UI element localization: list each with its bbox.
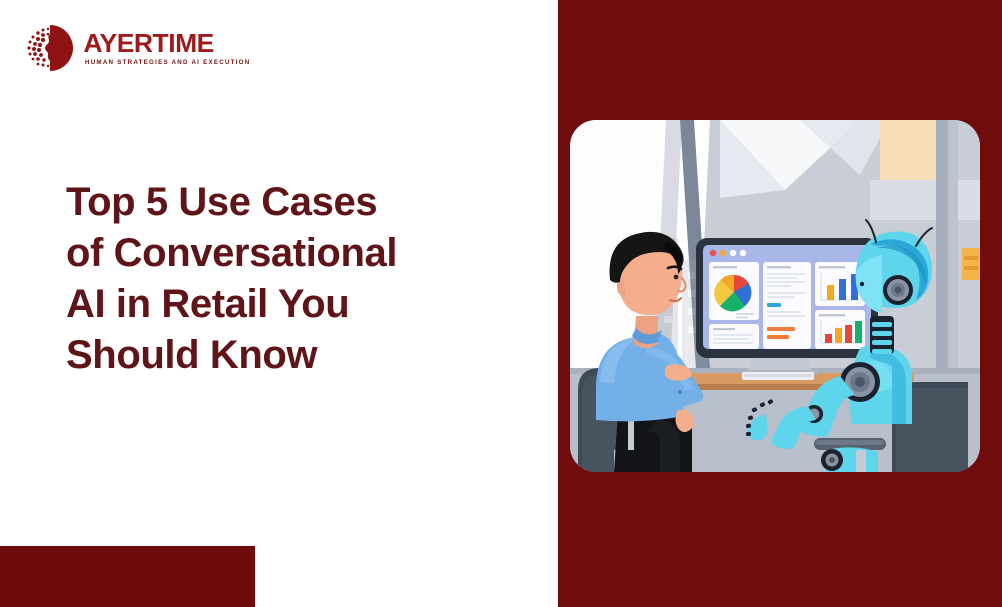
brand-tagline: HUMAN STRATEGIES AND AI EXECUTION bbox=[85, 59, 250, 66]
headline-line-3: AI in Retail You bbox=[66, 279, 546, 330]
man-and-robot-at-desk-illustration bbox=[570, 120, 980, 472]
dashboard-text-card-left bbox=[709, 324, 759, 349]
dashboard-highlight-bar bbox=[767, 303, 781, 307]
headline-line-2: of Conversational bbox=[66, 228, 546, 279]
brand-name: AYERTIME bbox=[83, 30, 252, 56]
desktop-monitor bbox=[696, 238, 878, 358]
window-dot-red bbox=[710, 250, 716, 256]
window-dot-yellow bbox=[720, 250, 726, 256]
dashboard-orange-bar-2 bbox=[767, 335, 789, 339]
dashboard-orange-bar-1 bbox=[767, 327, 795, 331]
page-title: Top 5 Use Cases of Conversational AI in … bbox=[66, 177, 546, 381]
window-dot-white-1 bbox=[730, 250, 736, 256]
eye bbox=[674, 275, 679, 280]
window-dot-white-2 bbox=[740, 250, 746, 256]
brand-logo[interactable]: AYERTIME HUMAN STRATEGIES AND AI EXECUTI… bbox=[24, 22, 250, 74]
robot-eye bbox=[860, 282, 864, 286]
bottom-accent-bar bbox=[0, 546, 255, 607]
headline-line-4: Should Know bbox=[66, 330, 546, 381]
dotted-face-profile-circle-icon bbox=[24, 22, 76, 74]
shelf-object bbox=[962, 248, 980, 280]
headline-line-1: Top 5 Use Cases bbox=[66, 177, 546, 228]
robot-neck bbox=[870, 316, 894, 354]
